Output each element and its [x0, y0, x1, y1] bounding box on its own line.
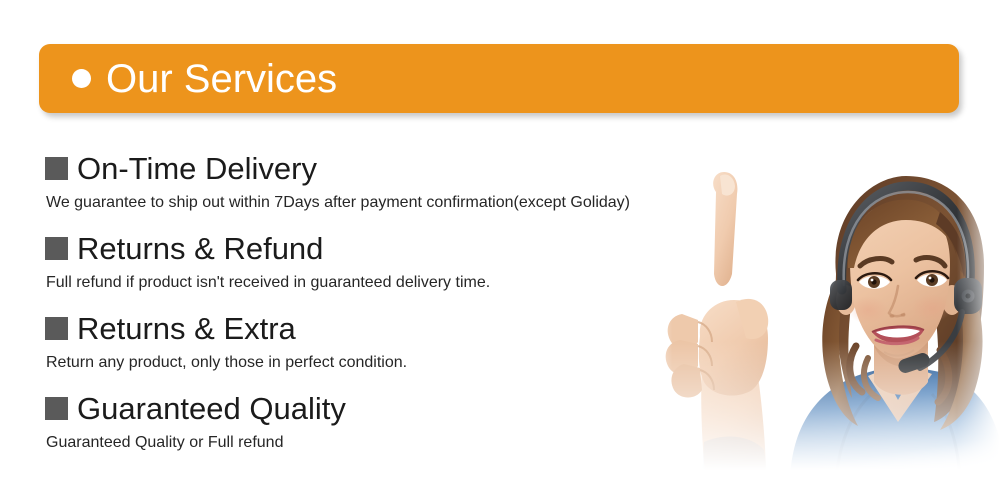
service-description: Guaranteed Quality or Full refund — [46, 432, 745, 453]
service-title: Returns & Extra — [77, 312, 296, 345]
photo-face — [848, 202, 952, 359]
services-page: Our Services On-Time Delivery We guarant… — [0, 0, 1000, 480]
photo-headset — [830, 186, 982, 375]
photo-shirt — [790, 364, 1000, 480]
photo-hair-front — [848, 200, 965, 402]
photo-eye-left — [858, 273, 891, 289]
service-heading-row: Returns & Extra — [45, 312, 745, 345]
service-heading-row: Guaranteed Quality — [45, 392, 745, 425]
filled-circle-icon — [72, 69, 91, 88]
service-title: On-Time Delivery — [77, 152, 317, 185]
filled-square-icon — [45, 317, 68, 340]
service-description: We guarantee to ship out within 7Days af… — [46, 192, 745, 213]
filled-square-icon — [45, 157, 68, 180]
page-title: Our Services — [106, 59, 337, 99]
service-description: Full refund if product isn't received in… — [46, 272, 745, 293]
service-heading-row: Returns & Refund — [45, 232, 745, 265]
list-item: Returns & Refund Full refund if product … — [45, 232, 745, 293]
services-list: On-Time Delivery We guarantee to ship ou… — [45, 152, 745, 453]
filled-square-icon — [45, 397, 68, 420]
service-description: Return any product, only those in perfec… — [46, 352, 745, 373]
list-item: Returns & Extra Return any product, only… — [45, 312, 745, 373]
list-item: On-Time Delivery We guarantee to ship ou… — [45, 152, 745, 213]
photo-eye-right — [916, 271, 948, 287]
photo-hair-back — [822, 176, 984, 430]
list-item: Guaranteed Quality Guaranteed Quality or… — [45, 392, 745, 453]
service-heading-row: On-Time Delivery — [45, 152, 745, 185]
filled-square-icon — [45, 237, 68, 260]
service-title: Guaranteed Quality — [77, 392, 346, 425]
service-title: Returns & Refund — [77, 232, 323, 265]
section-header-banner: Our Services — [39, 44, 959, 113]
